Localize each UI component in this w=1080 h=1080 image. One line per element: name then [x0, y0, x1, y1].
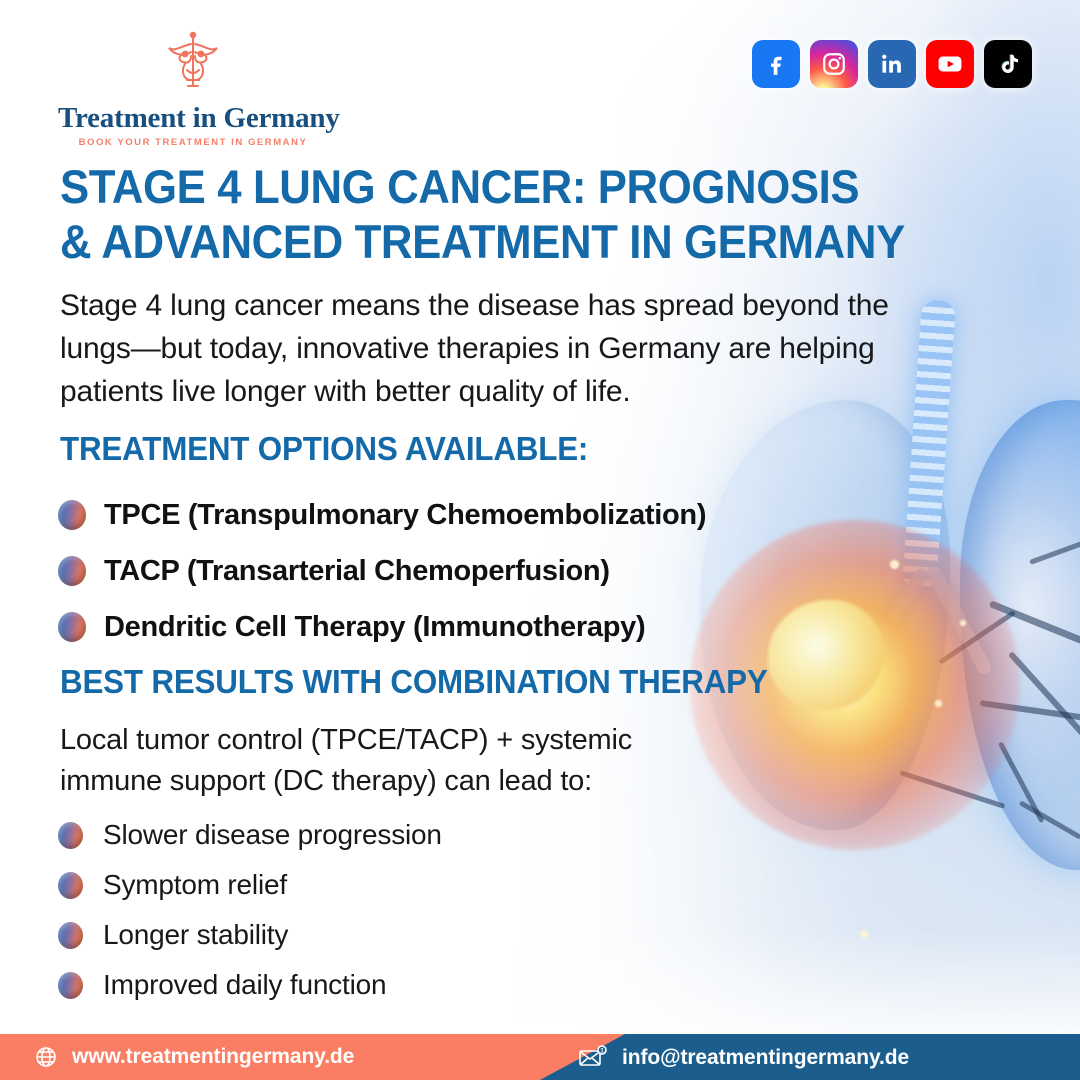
list-item: Improved daily function — [58, 960, 678, 1010]
brand-name: Treatment in Germany — [58, 102, 328, 135]
footer-website[interactable]: www.treatmentingermany.de — [34, 1045, 354, 1069]
tiktok-glyph — [996, 52, 1020, 76]
list-item: Longer stability — [58, 910, 678, 960]
page-title-line-2: & ADVANCED TREATMENT IN GERMANY — [60, 215, 925, 270]
instagram-icon[interactable] — [810, 40, 858, 88]
page-title-line-1: STAGE 4 LUNG CANCER: PROGNOSIS — [60, 160, 925, 215]
list-item-label: TACP (Transarterial Chemoperfusion) — [104, 555, 610, 588]
envelope-notification-icon: 1 — [578, 1045, 608, 1071]
combination-therapy-heading: BEST RESULTS WITH COMBINATION THERAPY — [60, 663, 768, 701]
list-item: TPCE (Transpulmonary Chemoembolization) — [58, 487, 858, 543]
footer-website-label: www.treatmentingermany.de — [72, 1045, 354, 1069]
facebook-glyph — [763, 51, 789, 77]
bullet-sphere-icon — [58, 822, 83, 849]
tiktok-icon[interactable] — [984, 40, 1032, 88]
brand-logo[interactable]: Treatment in Germany BOOK YOUR TREATMENT… — [58, 24, 328, 148]
list-item: Dendritic Cell Therapy (Immunotherapy) — [58, 599, 858, 655]
list-item-label: Slower disease progression — [103, 819, 442, 851]
linkedin-icon[interactable] — [868, 40, 916, 88]
brand-tagline: BOOK YOUR TREATMENT IN GERMANY — [58, 137, 328, 148]
bullet-sphere-icon — [58, 972, 83, 999]
bullet-sphere-icon — [58, 500, 86, 530]
instagram-glyph — [821, 51, 847, 77]
treatment-options-list: TPCE (Transpulmonary Chemoembolization) … — [58, 487, 858, 655]
benefits-list: Slower disease progression Symptom relie… — [58, 810, 678, 1010]
combination-therapy-body: Local tumor control (TPCE/TACP) + system… — [60, 720, 720, 802]
list-item: Symptom relief — [58, 860, 678, 910]
bullet-sphere-icon — [58, 612, 86, 642]
combination-body-line-1: Local tumor control (TPCE/TACP) + system… — [60, 720, 720, 761]
footer-bar: www.treatmentingermany.de 1 info@treatme… — [0, 1034, 1080, 1080]
bullet-sphere-icon — [58, 922, 83, 949]
social-links — [752, 40, 1032, 88]
intro-paragraph: Stage 4 lung cancer means the disease ha… — [60, 284, 960, 414]
linkedin-glyph — [879, 51, 905, 77]
treatment-options-heading: TREATMENT OPTIONS AVAILABLE: — [60, 430, 588, 468]
caduceus-icon — [157, 24, 229, 96]
bullet-sphere-icon — [58, 556, 86, 586]
poster-canvas: Treatment in Germany BOOK YOUR TREATMENT… — [0, 0, 1080, 1080]
list-item-label: TPCE (Transpulmonary Chemoembolization) — [104, 499, 706, 532]
page-title: STAGE 4 LUNG CANCER: PROGNOSIS & ADVANCE… — [60, 160, 925, 270]
list-item-label: Dendritic Cell Therapy (Immunotherapy) — [104, 611, 645, 644]
list-item: Slower disease progression — [58, 810, 678, 860]
footer-email-label: info@treatmentingermany.de — [622, 1046, 909, 1070]
list-item-label: Improved daily function — [103, 969, 386, 1001]
bullet-sphere-icon — [58, 872, 83, 899]
list-item-label: Symptom relief — [103, 869, 287, 901]
youtube-glyph — [936, 50, 964, 78]
list-item-label: Longer stability — [103, 919, 288, 951]
combination-body-line-2: immune support (DC therapy) can lead to: — [60, 761, 720, 802]
youtube-icon[interactable] — [926, 40, 974, 88]
facebook-icon[interactable] — [752, 40, 800, 88]
globe-icon — [34, 1045, 58, 1069]
footer-email[interactable]: 1 info@treatmentingermany.de — [578, 1045, 909, 1071]
list-item: TACP (Transarterial Chemoperfusion) — [58, 543, 858, 599]
